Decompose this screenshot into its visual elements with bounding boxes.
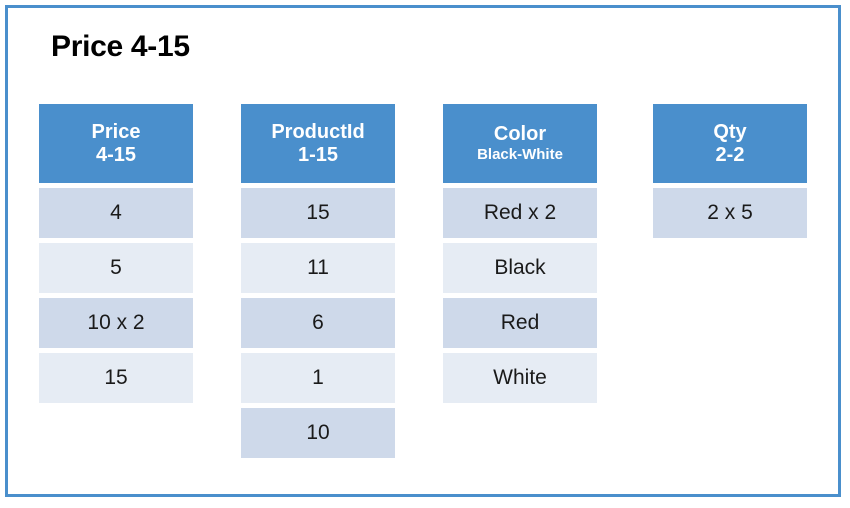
cell-price-2: 10 x 2 — [39, 298, 193, 348]
cell-color-3: White — [443, 353, 597, 403]
cell-color-2: Red — [443, 298, 597, 348]
cell-qty-0: 2 x 5 — [653, 188, 807, 238]
cell-price-0: 4 — [39, 188, 193, 238]
column-color: Color Black-White Red x 2 Black Red Whit… — [443, 104, 597, 403]
cell-productid-3: 1 — [241, 353, 395, 403]
page-title: Price 4-15 — [51, 30, 190, 64]
column-header-qty: Qty 2-2 — [653, 104, 807, 183]
cell-productid-2: 6 — [241, 298, 395, 348]
column-productid: ProductId 1-15 15 11 6 1 10 — [241, 104, 395, 458]
cell-color-0: Red x 2 — [443, 188, 597, 238]
column-header-title-qty: Qty — [713, 121, 746, 143]
cell-productid-0: 15 — [241, 188, 395, 238]
cell-productid-1: 11 — [241, 243, 395, 293]
cell-price-3: 15 — [39, 353, 193, 403]
column-header-title-productid: ProductId — [271, 121, 364, 143]
column-header-title-price: Price — [92, 121, 141, 143]
cell-productid-4: 10 — [241, 408, 395, 458]
slide-canvas: Price 4-15 Price 4-15 4 5 10 x 2 15 Prod… — [5, 5, 841, 497]
cell-price-1: 5 — [39, 243, 193, 293]
column-header-price: Price 4-15 — [39, 104, 193, 183]
column-header-color: Color Black-White — [443, 104, 597, 183]
cell-color-1: Black — [443, 243, 597, 293]
column-header-title-color: Color — [494, 123, 546, 145]
column-qty: Qty 2-2 2 x 5 — [653, 104, 807, 238]
column-price: Price 4-15 4 5 10 x 2 15 — [39, 104, 193, 403]
column-header-subtitle-qty: 2-2 — [716, 144, 745, 166]
column-header-productid: ProductId 1-15 — [241, 104, 395, 183]
column-header-subtitle-color: Black-White — [477, 147, 563, 164]
column-header-subtitle-price: 4-15 — [96, 144, 136, 166]
column-header-subtitle-productid: 1-15 — [298, 144, 338, 166]
